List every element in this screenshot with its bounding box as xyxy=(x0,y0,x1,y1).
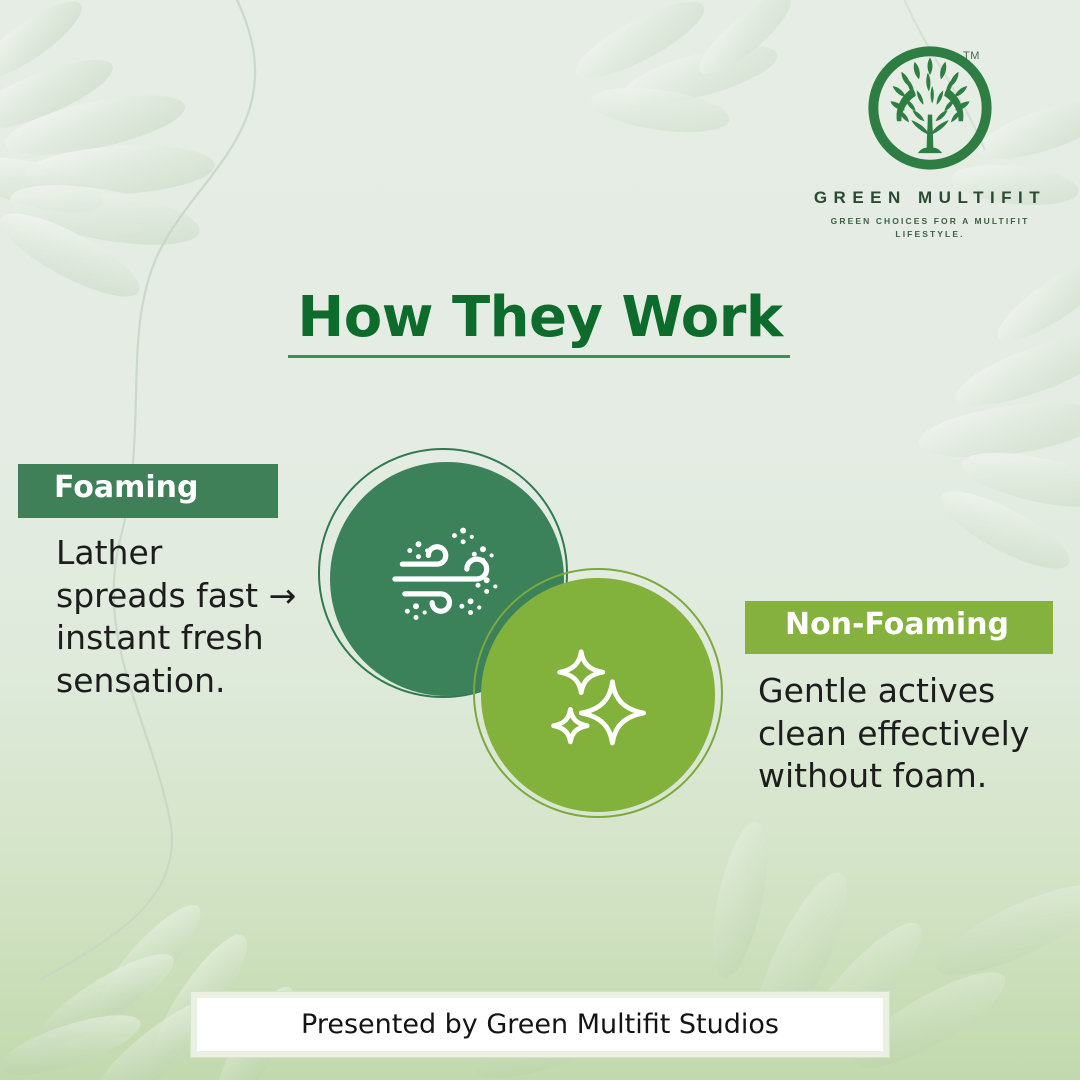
nonfoaming-description: Gentle actives clean effectively without… xyxy=(758,670,1058,798)
nonfoaming-badge: Non-Foaming xyxy=(745,601,1053,654)
sparkles-icon xyxy=(538,635,658,755)
brand-logo: TM xyxy=(805,42,1055,241)
trademark-symbol: TM xyxy=(963,50,980,62)
nonfoaming-circle[interactable] xyxy=(481,578,715,812)
footer-banner: Presented by Green Multifit Studios xyxy=(190,991,890,1058)
page-title: How They Work xyxy=(0,285,1080,350)
brand-tagline: GREEN CHOICES FOR A MULTIFIT LIFESTYLE. xyxy=(805,215,1055,241)
footer-credit: Presented by Green Multifit Studios xyxy=(197,998,883,1051)
title-underline xyxy=(288,355,790,358)
brand-name: GREEN MULTIFIT xyxy=(805,188,1055,208)
foaming-description: Lather spreads fast → instant fresh sens… xyxy=(56,532,316,702)
leaf-cluster-top-left xyxy=(0,0,216,311)
poster-canvas: TM xyxy=(0,0,1080,1080)
leaf-cluster-top-center xyxy=(567,0,800,140)
foaming-badge: Foaming xyxy=(18,464,278,518)
wind-sparkle-icon xyxy=(385,517,509,641)
